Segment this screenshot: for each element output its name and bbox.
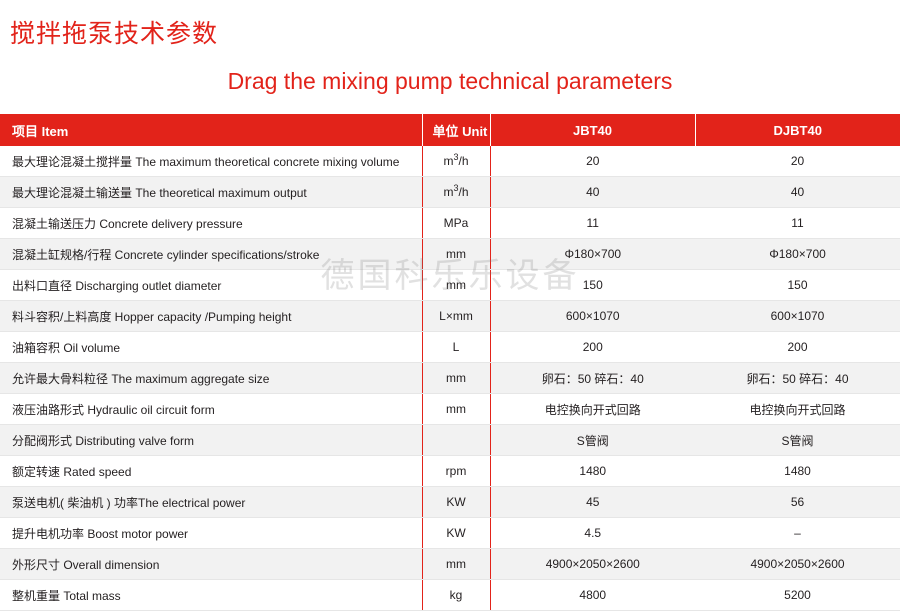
cell-unit: rpm bbox=[422, 456, 490, 487]
cell-value-djbt40: 200 bbox=[695, 332, 900, 363]
cell-value-jbt40: 11 bbox=[490, 208, 695, 239]
cell-item: 允许最大骨料粒径 The maximum aggregate size bbox=[0, 363, 422, 394]
cell-item: 液压油路形式 Hydraulic oil circuit form bbox=[0, 394, 422, 425]
cell-value-jbt40: 电控换向开式回路 bbox=[490, 394, 695, 425]
cell-item: 分配阀形式 Distributing valve form bbox=[0, 425, 422, 456]
cell-value-jbt40: 4800 bbox=[490, 580, 695, 611]
cell-value-djbt40: 40 bbox=[695, 177, 900, 208]
cell-item: 料斗容积/上料高度 Hopper capacity /Pumping heigh… bbox=[0, 301, 422, 332]
cell-item: 混凝土输送压力 Concrete delivery pressure bbox=[0, 208, 422, 239]
cell-unit: KW bbox=[422, 487, 490, 518]
column-header-djbt40: DJBT40 bbox=[695, 114, 900, 146]
cell-unit bbox=[422, 425, 490, 456]
cell-unit: mm bbox=[422, 394, 490, 425]
table-row: 液压油路形式 Hydraulic oil circuit formmm电控换向开… bbox=[0, 394, 900, 425]
table-row: 料斗容积/上料高度 Hopper capacity /Pumping heigh… bbox=[0, 301, 900, 332]
table-row: 允许最大骨料粒径 The maximum aggregate sizemm卵石：… bbox=[0, 363, 900, 394]
cell-value-jbt40: 20 bbox=[490, 146, 695, 177]
column-header-item: 项目 Item bbox=[0, 114, 422, 146]
table-header: 项目 Item 单位 Unit JBT40 DJBT40 bbox=[0, 114, 900, 146]
table-row: 油箱容积 Oil volumeL200200 bbox=[0, 332, 900, 363]
cell-value-djbt40: 600×1070 bbox=[695, 301, 900, 332]
cell-item: 泵送电机( 柴油机 ) 功率The electrical power bbox=[0, 487, 422, 518]
cell-value-djbt40: S管阀 bbox=[695, 425, 900, 456]
table-row: 出料口直径 Discharging outlet diametermm15015… bbox=[0, 270, 900, 301]
column-header-jbt40: JBT40 bbox=[490, 114, 695, 146]
cell-unit: L×mm bbox=[422, 301, 490, 332]
cell-unit: MPa bbox=[422, 208, 490, 239]
cell-value-jbt40: Φ180×700 bbox=[490, 239, 695, 270]
spec-table-wrapper: 项目 Item 单位 Unit JBT40 DJBT40 最大理论混凝土搅拌量 … bbox=[0, 114, 900, 611]
cell-value-jbt40: 600×1070 bbox=[490, 301, 695, 332]
cell-unit: mm bbox=[422, 549, 490, 580]
cell-unit: m3/h bbox=[422, 146, 490, 177]
cell-value-djbt40: 4900×2050×2600 bbox=[695, 549, 900, 580]
cell-value-djbt40: 电控换向开式回路 bbox=[695, 394, 900, 425]
spec-sheet-page: 搅拌拖泵技术参数 Drag the mixing pump technical … bbox=[0, 0, 900, 581]
table-row: 最大理论混凝土搅拌量 The maximum theoretical concr… bbox=[0, 146, 900, 177]
table-row: 额定转速 Rated speedrpm14801480 bbox=[0, 456, 900, 487]
page-title-en: Drag the mixing pump technical parameter… bbox=[0, 68, 900, 95]
table-row: 最大理论混凝土输送量 The theoretical maximum outpu… bbox=[0, 177, 900, 208]
table-row: 提升电机功率 Boost motor powerKW4.5– bbox=[0, 518, 900, 549]
cell-unit: mm bbox=[422, 363, 490, 394]
cell-unit: mm bbox=[422, 239, 490, 270]
cell-value-djbt40: 1480 bbox=[695, 456, 900, 487]
cell-unit: m3/h bbox=[422, 177, 490, 208]
cell-value-jbt40: S管阀 bbox=[490, 425, 695, 456]
cell-unit: kg bbox=[422, 580, 490, 611]
cell-unit: mm bbox=[422, 270, 490, 301]
cell-value-djbt40: 5200 bbox=[695, 580, 900, 611]
table-row: 整机重量 Total masskg48005200 bbox=[0, 580, 900, 611]
cell-value-jbt40: 200 bbox=[490, 332, 695, 363]
cell-value-jbt40: 4900×2050×2600 bbox=[490, 549, 695, 580]
cell-value-djbt40: 20 bbox=[695, 146, 900, 177]
table-row: 混凝土缸规格/行程 Concrete cylinder specificatio… bbox=[0, 239, 900, 270]
cell-item: 最大理论混凝土输送量 The theoretical maximum outpu… bbox=[0, 177, 422, 208]
cell-item: 最大理论混凝土搅拌量 The maximum theoretical concr… bbox=[0, 146, 422, 177]
table-header-row: 项目 Item 单位 Unit JBT40 DJBT40 bbox=[0, 114, 900, 146]
cell-item: 额定转速 Rated speed bbox=[0, 456, 422, 487]
cell-item: 出料口直径 Discharging outlet diameter bbox=[0, 270, 422, 301]
cell-value-jbt40: 45 bbox=[490, 487, 695, 518]
cell-item: 混凝土缸规格/行程 Concrete cylinder specificatio… bbox=[0, 239, 422, 270]
cell-value-jbt40: 1480 bbox=[490, 456, 695, 487]
table-row: 混凝土输送压力 Concrete delivery pressureMPa111… bbox=[0, 208, 900, 239]
cell-item: 油箱容积 Oil volume bbox=[0, 332, 422, 363]
table-row: 泵送电机( 柴油机 ) 功率The electrical powerKW4556 bbox=[0, 487, 900, 518]
table-body: 最大理论混凝土搅拌量 The maximum theoretical concr… bbox=[0, 146, 900, 611]
cell-value-djbt40: 150 bbox=[695, 270, 900, 301]
spec-table: 项目 Item 单位 Unit JBT40 DJBT40 最大理论混凝土搅拌量 … bbox=[0, 114, 900, 611]
cell-unit: L bbox=[422, 332, 490, 363]
cell-value-djbt40: 56 bbox=[695, 487, 900, 518]
cell-unit: KW bbox=[422, 518, 490, 549]
cell-value-jbt40: 150 bbox=[490, 270, 695, 301]
table-row: 分配阀形式 Distributing valve formS管阀S管阀 bbox=[0, 425, 900, 456]
column-header-unit: 单位 Unit bbox=[422, 114, 490, 146]
cell-value-jbt40: 4.5 bbox=[490, 518, 695, 549]
cell-value-djbt40: Φ180×700 bbox=[695, 239, 900, 270]
table-row: 外形尺寸 Overall dimensionmm4900×2050×260049… bbox=[0, 549, 900, 580]
cell-value-jbt40: 40 bbox=[490, 177, 695, 208]
cell-value-jbt40: 卵石：50 碎石：40 bbox=[490, 363, 695, 394]
cell-value-djbt40: 11 bbox=[695, 208, 900, 239]
cell-item: 提升电机功率 Boost motor power bbox=[0, 518, 422, 549]
cell-value-djbt40: 卵石：50 碎石：40 bbox=[695, 363, 900, 394]
cell-item: 整机重量 Total mass bbox=[0, 580, 422, 611]
cell-value-djbt40: – bbox=[695, 518, 900, 549]
cell-item: 外形尺寸 Overall dimension bbox=[0, 549, 422, 580]
page-title-cn: 搅拌拖泵技术参数 bbox=[10, 14, 218, 50]
